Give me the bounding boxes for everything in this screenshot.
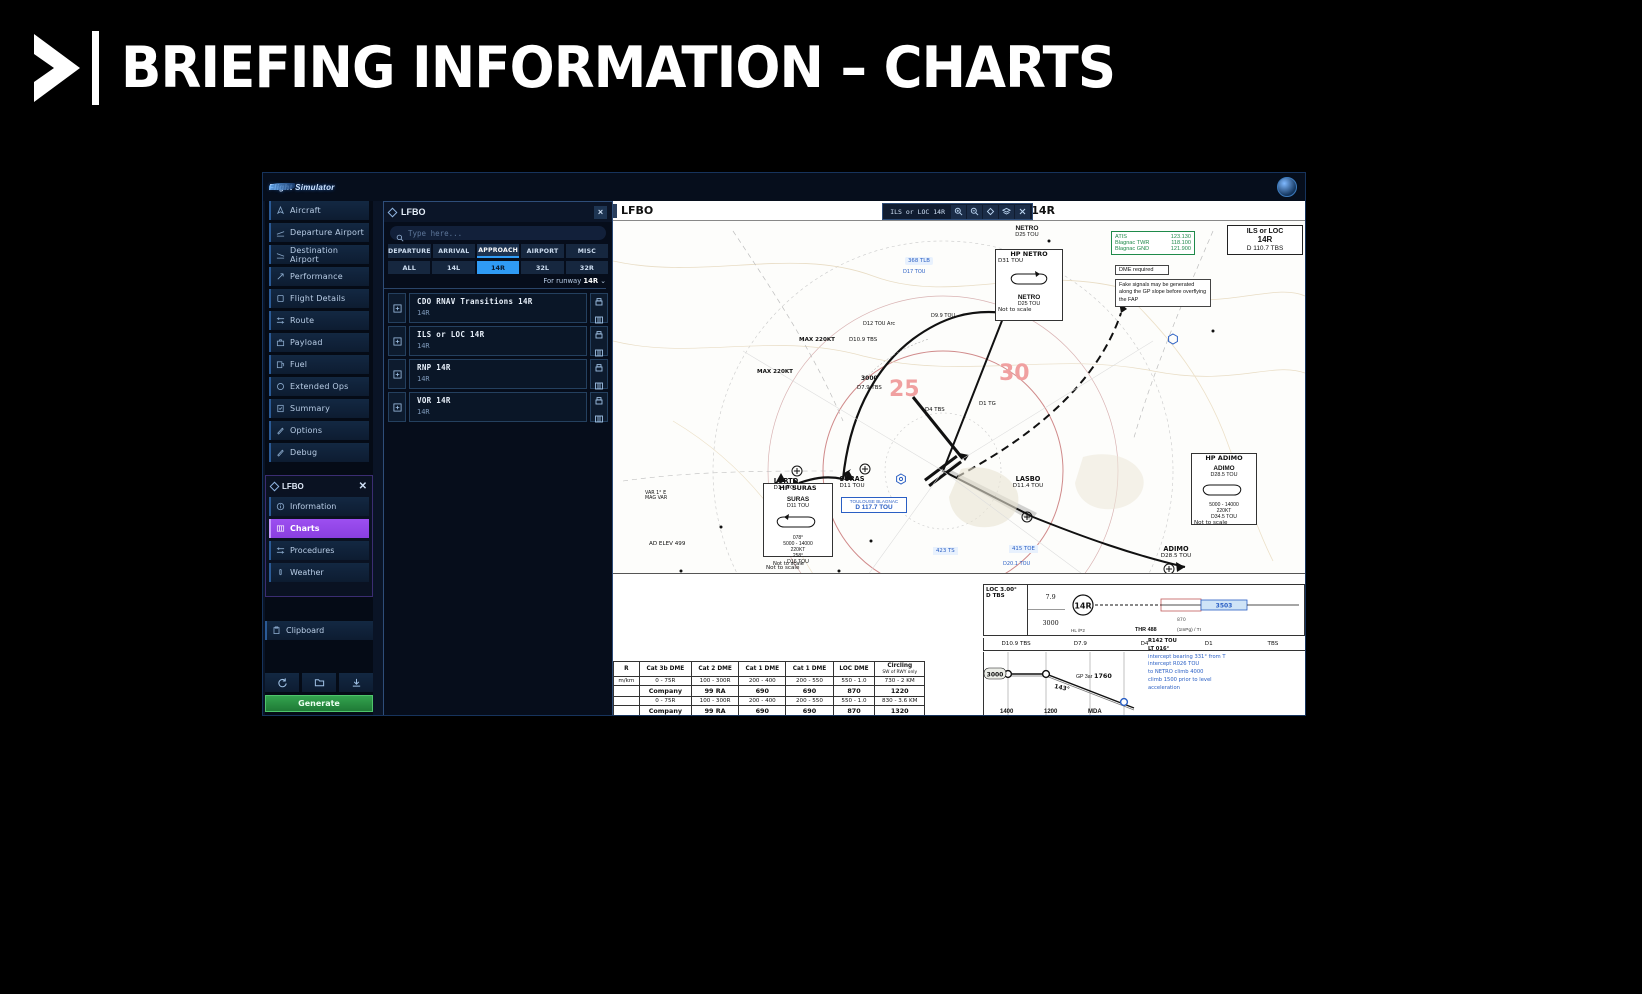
tab-arrival[interactable]: ARRIVAL [433,244,475,258]
cell: 200 - 550 [786,677,833,686]
sidebar-item-information[interactable]: Information [269,497,369,516]
blue-d17-label: D17 TOU [903,269,925,275]
netro-waypoint-label: NETRO D25 TOU [995,225,1059,238]
sidebar-label: Flight Details [290,294,345,303]
sidebar-item-charts[interactable]: Charts [269,519,369,538]
chart-runway: 14R [417,408,586,416]
cell: 1320 [891,707,909,715]
airport-subpanel: LFBO ✕ Information Charts Procedures Wea… [265,475,373,597]
sidebar-item-debug[interactable]: Debug [269,443,369,462]
toolbar-chart-label: ILS or LOC 14R [885,208,950,216]
pin-icon[interactable] [388,359,406,389]
mag-var-label: VAR 1° E MAG VAR [645,491,667,501]
waypoint-dme: D14 TOU [761,485,811,491]
page-title: BRIEFING INFORMATION – CHARTS [121,35,1115,101]
list-item[interactable]: CDO RNAV Transitions 14R 14R [388,293,608,323]
debug-icon [276,448,285,457]
runway-tab-32l[interactable]: 32L [521,261,563,274]
vor-freq: D 117.7 TOU [844,504,904,511]
chart-actions [590,392,608,422]
chart-runway: 14R [417,375,586,383]
svg-text:3503: 3503 [1216,603,1233,610]
flight-details-icon [276,294,285,303]
altitude-3000: 3000 [861,375,878,382]
close-icon[interactable]: ✕ [359,482,367,492]
open-chart-icon[interactable] [594,411,604,429]
gp-label: GP 3ar [1076,674,1092,680]
hp-racetrack-icon [996,264,1062,294]
approach-notes: R142 TOU LT 016° intercept bearing 331° … [1148,638,1303,716]
runway-strip-panel: 14R 3503 870 HL /P2 THR 488 (1InPg) / TI [1065,584,1305,636]
hp-title: HP NETRO [996,250,1062,258]
waypoint-lasbo: LASBO D11.4 TOU [1001,475,1055,489]
airport-code: LFBO [282,482,304,491]
zoom-in-icon[interactable] [951,205,966,219]
chart-ident-line1: ILS or LOC [1231,228,1299,235]
aircraft-icon [276,206,285,215]
blue-d201-label: D20.1 TOU [1003,561,1030,567]
note-line: climb 1500 prior to level [1148,677,1303,685]
svg-text:3000: 3000 [987,672,1004,679]
tab-airport[interactable]: AIRPORT [521,244,563,258]
chart-runway: 14R [417,309,586,317]
for-runway-indicator: For runway 14R ⌄ [384,277,606,289]
cell: 0 - 75R [639,677,691,686]
tab-departure[interactable]: DEPARTURE [388,244,431,258]
blue-toe-label: 415 TOE [1009,545,1038,553]
hp-wpt: ADIMO [1192,465,1256,472]
chart-actions [590,326,608,356]
waypoint-suras: SURAS D11 TOU [827,475,877,489]
sidebar-label: Procedures [290,546,334,555]
netro-dme: D25 TOU [995,232,1059,238]
sidebar-label: Debug [290,448,317,457]
cell: 730 - 2 KM [875,677,925,686]
col-rwy: R [614,662,640,677]
download-icon[interactable] [339,673,373,692]
chart-toolbar: ILS or LOC 14R [882,203,1033,220]
note-line: acceleration [1148,685,1303,693]
blue-tlb-label: 368 TLB [905,257,933,265]
runway-tab-14l[interactable]: 14L [432,261,474,274]
sidebar-item-performance[interactable]: Performance [269,267,369,286]
procedures-icon [276,546,285,555]
note-line: to NETRO climb 4000 [1148,669,1303,677]
payload-icon [276,338,285,347]
account-avatar[interactable] [1277,177,1297,197]
cell: 200 - 400 [739,677,786,686]
holding-pattern-adimo: HP ADIMO ADIMO D28.5 TOU 5000 - 14000 22… [1191,453,1257,525]
cell: 870 [847,707,860,715]
print-icon[interactable] [594,393,604,411]
chart-list: CDO RNAV Transitions 14R 14R ILS or LOC … [388,293,608,422]
dme-required-note: DME required [1115,265,1169,275]
thr-sub-label: (1InPg) / TI [1177,628,1201,633]
vor-ident-box: TOULOUSE BLAGNAC D 117.7 TOU [841,497,907,513]
cell: 870 [847,687,860,695]
waypoint-name: LASBO [1001,475,1055,483]
airport-subpanel-header: LFBO ✕ [269,479,369,494]
hp-scale: Not to scale [1192,520,1256,526]
chart-actions [590,293,608,323]
sidebar-item-fuel[interactable]: Fuel [269,355,369,374]
charts-panel: LFBO × Type here... DEPARTURE ARRIVAL AP… [383,201,613,716]
dme-d79: D7.9 TBS [857,385,882,391]
msa-sector-25: 25 [889,377,920,402]
col-loc: LOC DME [833,662,875,677]
sidebar-label: Performance [290,272,343,281]
table-row: Company 99 RA 690 690 870 1220 [614,686,925,697]
fake-signal-note: Fake signals may be generated along the … [1115,279,1211,307]
runway-filter-tabs: ALL 14L 14R 32L 32R [388,261,608,274]
sidebar-label: Destination Airport [290,246,369,264]
cell: 99 RA [705,707,726,715]
loc-ident: D TBS [986,593,1025,599]
hp-title: HP ADIMO [1192,454,1256,462]
chevron-down-icon[interactable]: ⌄ [600,277,606,285]
chart-runway: 14R [417,342,586,350]
holding-pattern-netro: HP NETRO D31 TOU NETRO D25 TOU Not to sc… [995,249,1063,321]
chart-info[interactable]: CDO RNAV Transitions 14R 14R [409,293,587,323]
dme-mark: D10.9 TBS [984,641,1048,647]
cell: 100 - 300R [692,677,739,686]
sidebar-item-route[interactable]: Route [269,311,369,330]
col-circling: Circling SW of RWY only [875,662,925,677]
sidebar-label: Payload [290,338,323,347]
summary-icon [276,404,285,413]
cell: 200 - 400 [739,697,786,706]
reset-icon[interactable] [265,673,299,692]
svg-text:870: 870 [1177,617,1186,623]
runway-tab-14r[interactable]: 14R [477,261,519,274]
max-speed-1: MAX 220KT [799,337,835,343]
vertical-profile-graph: 3000 143° 1760 1400 1200 MDA GP 3ar [983,652,1145,716]
waypoint-dme: D28.5 TOU [1149,553,1203,559]
sidebar-label: Departure Airport [290,228,364,237]
cell: 690 [803,707,816,715]
waypoint-name: SURAS [827,475,877,483]
sidebar-item-procedures[interactable]: Procedures [269,541,369,560]
flight-simulator-logo: Flight Simulator [269,179,343,196]
not-to-scale-note: Not to scale [773,561,804,567]
layers-icon[interactable] [999,205,1014,219]
atis-key: Blagnac GND [1115,246,1149,252]
profile-path-art: 3000 143° 1760 [984,652,1146,716]
cell: 690 [756,687,769,695]
arc-label-12: D12 TOU Arc [863,321,895,327]
extended-ops-icon [276,382,285,391]
waypoint-name: ADIMO [1149,545,1203,553]
cell: 100 - 300R [692,697,739,706]
sidebar-label: Extended Ops [290,382,348,391]
note-line: intercept bearing 331° from T [1148,654,1303,662]
clipboard-icon [272,626,281,635]
cell [614,706,640,717]
runway-tab-32r[interactable]: 32R [566,261,608,274]
print-icon[interactable] [594,294,604,312]
weather-icon [276,568,285,577]
chart-viewer-header: × LFBO ILS or LOC 14R ILS or LOC 14R [613,201,1305,221]
chart-title: ILS or LOC 14R [417,330,586,339]
sidebar-item-departure-airport[interactable]: Departure Airport [269,223,369,242]
cell: Company [649,707,682,715]
sidebar-item-destination-airport[interactable]: Destination Airport [269,245,369,264]
chevron-right-icon [28,32,86,104]
chart-lower-section: R Cat 3b DME Cat 2 DME Cat 1 DME Cat 1 D… [613,573,1305,716]
netro-name: NETRO [995,225,1059,232]
cell: 99 RA [705,687,726,695]
tab-approach[interactable]: APPROACH [477,244,519,258]
sidebar-label: Route [290,316,314,325]
dme-d109: D10.9 TBS [849,337,877,343]
title-divider [92,31,99,105]
list-item[interactable]: RNP 14R 14R [388,359,608,389]
search-icon [396,229,404,237]
note-line: R142 TOU [1148,638,1303,646]
col-cat3b: Cat 3b DME [639,662,691,677]
sidebar-item-summary[interactable]: Summary [269,399,369,418]
thr-elevation: THR 488 [1135,627,1157,633]
zoom-out-icon[interactable] [967,205,982,219]
chart-title: RNP 14R [417,363,586,372]
pin-icon[interactable] [388,392,406,422]
waypoint-dme: D11 TOU [827,483,877,489]
flight-planner-window: Flight Simulator Aircraft Departure Airp… [262,172,1306,716]
sidebar-label: Fuel [290,360,307,369]
waypoint-adimo: ADIMO D28.5 TOU [1149,545,1203,559]
chart-ident-line3: D 110.7 TBS [1231,245,1299,252]
route-icon [276,316,285,325]
cell [614,686,640,697]
info-icon [276,502,285,511]
chart-viewer: × LFBO ILS or LOC 14R ILS or LOC 14R [613,201,1305,716]
note-line: intercept R026 TOU [1148,661,1303,669]
max-speed-2: MAX 220KT [757,369,793,375]
cell: 200 - 550 [786,697,833,706]
loc-gradient-cell: LOC 3.00° D TBS [984,585,1028,635]
cell: 550 - 1.0 [833,697,875,706]
mda-label: MDA [1088,709,1102,715]
dme-mark: D7.9 [1048,641,1112,647]
charts-icon [276,524,285,533]
departure-icon [276,228,285,237]
dme-d1: D1 TG [979,401,996,407]
sidebar-label: Aircraft [290,206,321,215]
chart-actions [590,359,608,389]
close-icon[interactable]: × [594,206,607,219]
fuel-icon [276,360,285,369]
search-box[interactable]: Type here... [390,226,606,240]
for-runway-value: 14R [583,277,598,285]
sidebar-item-clipboard[interactable]: Clipboard [265,621,373,640]
search-input[interactable]: Type here... [408,229,600,238]
runway-tab-all[interactable]: ALL [388,261,430,274]
alt-tick-1400: 1400 [1000,709,1013,715]
hl-p2-label: HL /P2 [1071,628,1085,633]
diamond-icon [388,207,398,217]
atis-frequency-box: ATIS123.130 Blagnac TWR118.100 Blagnac G… [1111,231,1195,255]
waypoint-lorto: LORTO D14 TOU [761,477,811,491]
sidebar-label: Charts [290,524,320,533]
chart-ident-box: ILS or LOC 14R D 110.7 TBS [1227,225,1303,255]
print-icon[interactable] [594,360,604,378]
hp-wpt: SURAS [764,496,832,503]
sidebar-item-flight-details[interactable]: Flight Details [269,289,369,308]
table-header-row: R Cat 3b DME Cat 2 DME Cat 1 DME Cat 1 D… [614,662,925,677]
waypoint-name: LORTO [761,477,811,485]
sidebar-item-aircraft[interactable]: Aircraft [269,201,369,220]
minima-table: R Cat 3b DME Cat 2 DME Cat 1 DME Cat 1 D… [613,661,925,716]
hp-wpt: NETRO [996,294,1062,301]
close-icon[interactable] [1015,205,1030,219]
cell: 690 [803,687,816,695]
col-cat1a: Cat 1 DME [739,662,786,677]
options-icon [276,426,285,435]
col-cat2: Cat 2 DME [692,662,739,677]
list-item[interactable]: VOR 14R 14R [388,392,608,422]
sidebar-item-options[interactable]: Options [269,421,369,440]
cell [614,697,640,706]
holding-pattern-suras: HP SURAS SURAS D11 TOU 078° 5000 - 14000… [763,483,833,557]
waypoint-dme: D11.4 TOU [1001,483,1055,489]
chart-info[interactable]: ILS or LOC 14R 14R [409,326,587,356]
sidebar-label: Options [290,426,322,435]
hp-racetrack-icon [1192,478,1254,502]
chart-ident-line2: 14R [1231,235,1299,244]
sidebar-item-weather[interactable]: Weather [269,563,369,582]
dme-d4: D4 TBS [925,407,945,413]
cell: 830 - 3.6 KM [875,697,925,706]
hp-scale: Not to scale [996,307,1062,313]
cell: Company [649,687,682,695]
cell: 550 - 1.0 [833,677,875,686]
charts-panel-header: LFBO × [384,202,612,222]
sidebar-item-payload[interactable]: Payload [269,333,369,352]
alt-tick-1200: 1200 [1044,709,1057,715]
sidebar-tool-row [265,673,373,692]
cell: 690 [756,707,769,715]
slide-header: BRIEFING INFORMATION – CHARTS [0,18,1190,118]
diamond-icon [270,482,280,492]
charts-panel-airport: LFBO [401,207,426,217]
col-cat1b: Cat 1 DME [786,662,833,677]
atis-value: 121.900 [1171,246,1191,252]
note-line: LT 016° [1148,646,1303,654]
print-icon[interactable] [594,327,604,345]
generate-label: Generate [298,699,340,708]
generate-button[interactable]: Generate [265,695,373,712]
cell: m/km [614,677,640,686]
sidebar-label: Information [290,502,336,511]
cell: 0 - 75R [639,697,691,706]
aerodrome-elevation: AD ELEV 499 [649,541,685,547]
hp-racetrack-icon [764,509,830,535]
chart-info[interactable]: RNP 14R 14R [409,359,587,389]
table-row: Company 99 RA 690 690 870 1320 [614,706,925,717]
sidebar-label: Summary [290,404,330,413]
table-row: 0 - 75R 100 - 300R 200 - 400 200 - 550 5… [614,697,925,706]
pin-icon[interactable] [388,293,406,323]
folder-open-icon[interactable] [302,673,336,692]
clipboard-label: Clipboard [286,626,324,635]
table-row: m/km 0 - 75R 100 - 300R 200 - 400 200 - … [614,677,925,686]
fit-view-icon[interactable] [983,205,998,219]
app-titlebar: Flight Simulator [263,173,1305,201]
list-item[interactable]: ILS or LOC 14R 14R [388,326,608,356]
arc-label-99: D9.9 TOU [931,313,955,319]
svg-text:14R: 14R [1074,602,1091,611]
chart-title: VOR 14R [417,396,586,405]
blue-ts-label: 423 TS [933,547,958,555]
for-runway-label: For runway [543,277,581,285]
tab-misc[interactable]: MISC [566,244,608,258]
destination-icon [276,250,285,259]
pin-icon[interactable] [388,326,406,356]
chart-info[interactable]: VOR 14R 14R [409,392,587,422]
viewer-runway: 14R [1031,204,1055,217]
category-tabs: DEPARTURE ARRIVAL APPROACH AIRPORT MISC [388,244,608,258]
cell: 1220 [891,687,909,695]
svg-text:1760: 1760 [1094,672,1112,680]
sidebar-item-extended-ops[interactable]: Extended Ops [269,377,369,396]
sidebar-label: Weather [290,568,324,577]
performance-icon [276,272,285,281]
chart-title: CDO RNAV Transitions 14R [417,297,586,306]
msa-sector-30: 30 [999,361,1030,386]
chart-plate[interactable]: ILS or LOC 14R D 110.7 TBS ATIS123.130 B… [613,221,1305,716]
